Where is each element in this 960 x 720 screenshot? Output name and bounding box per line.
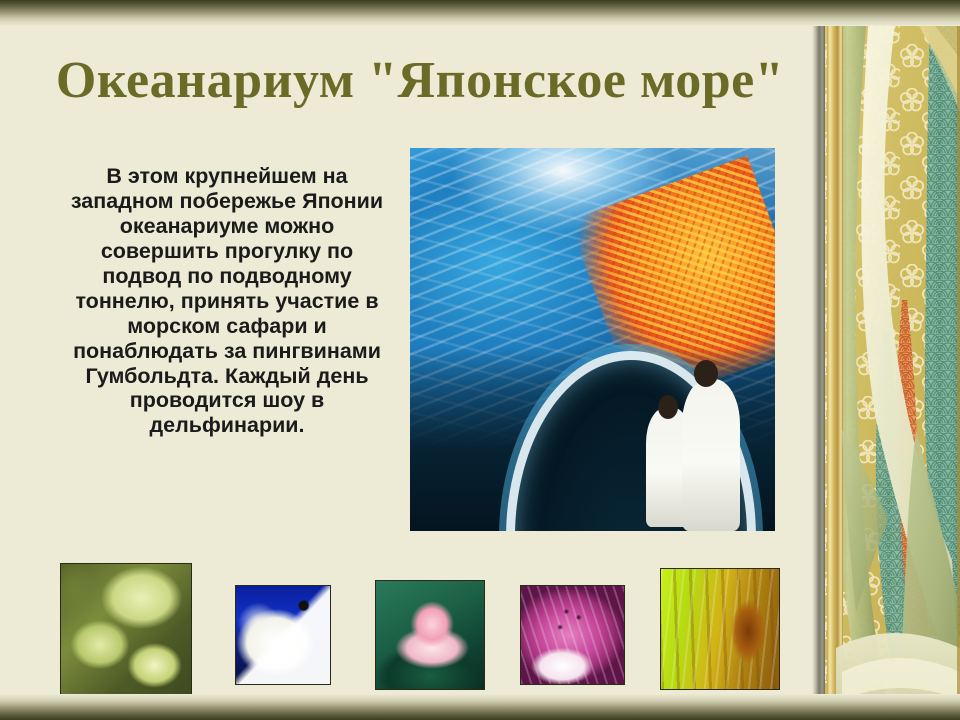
slide-canvas: Океанариум "Японское море" В этом крупне… (0, 0, 960, 720)
thumbnail-image (661, 569, 779, 689)
thumbnail-image (61, 564, 191, 694)
thumbnail-white-lily-on-blue[interactable] (235, 585, 331, 685)
japanese-decorative-border (812, 0, 960, 720)
visitor-head-left (658, 395, 678, 419)
body-paragraph: В этом крупнейшем на западном побережье … (62, 164, 392, 438)
visitor-figure-right (682, 379, 740, 531)
page-title: Океанариум "Японское море" (40, 54, 800, 109)
bottom-edge-fade (0, 694, 960, 720)
ornament-shadow-strip (812, 0, 825, 720)
ornament-artwork (812, 0, 960, 720)
top-edge-fade (0, 0, 960, 26)
thumbnail-yellow-green-macro[interactable] (660, 568, 780, 690)
thumbnail-image (236, 586, 330, 684)
thumbnail-image (521, 586, 624, 684)
thumbnail-image (376, 581, 484, 689)
thumbnail-pale-green-flowers[interactable] (60, 563, 192, 695)
thumbnail-pink-lotus[interactable] (375, 580, 485, 690)
main-photo-underwater-tunnel (410, 148, 775, 531)
thumbnail-magenta-flower[interactable] (520, 585, 625, 685)
visitor-head-right (694, 360, 718, 387)
